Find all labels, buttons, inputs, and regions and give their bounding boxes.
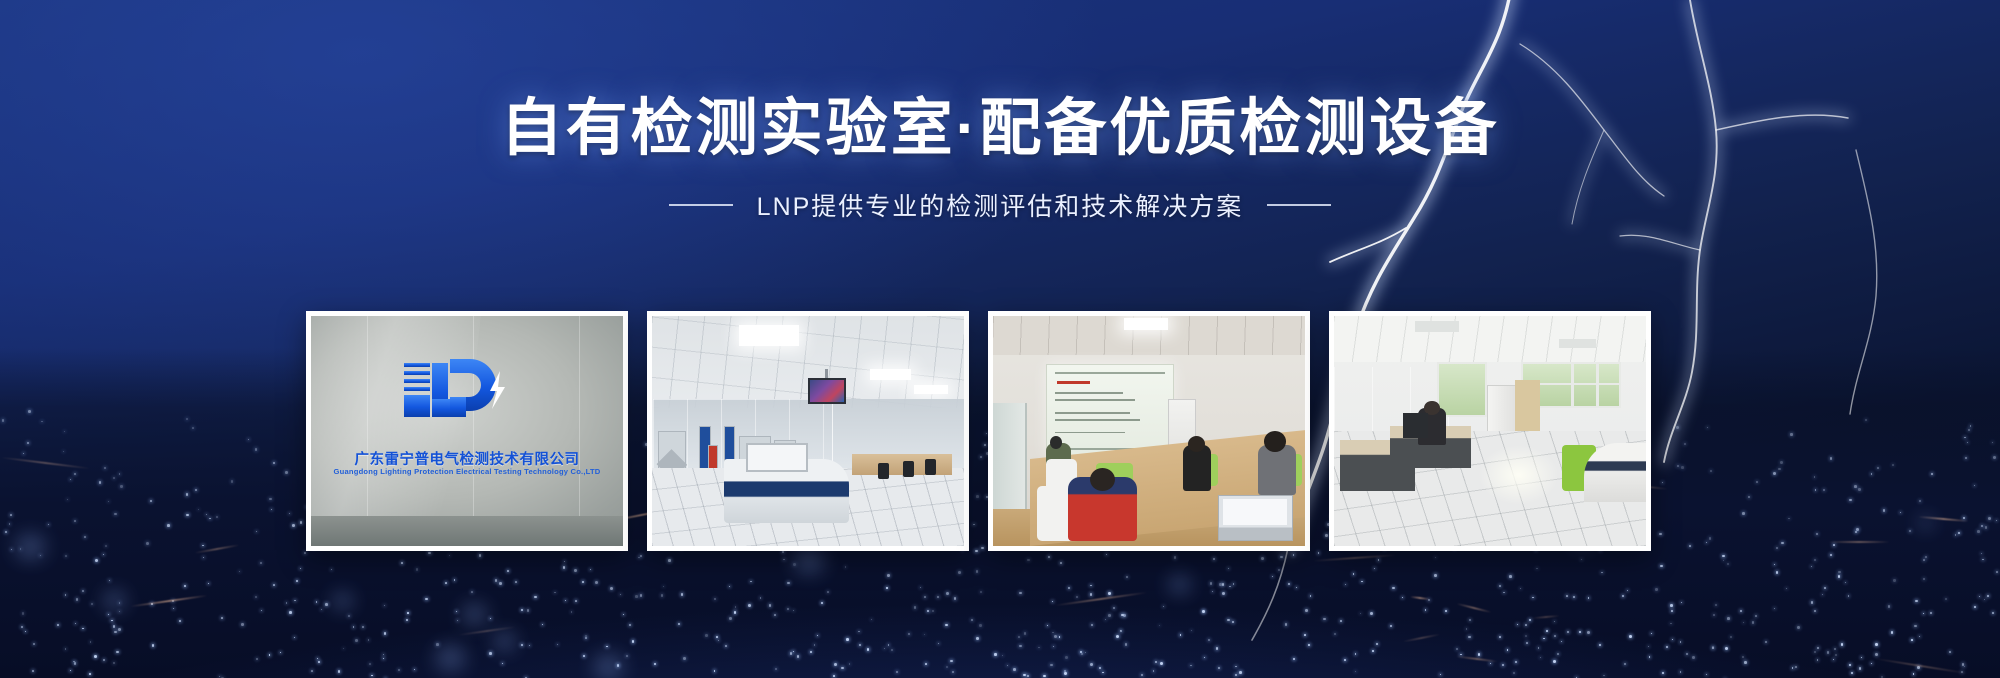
lnp-logo-icon [392,355,542,433]
subtitle-row: LNP提供专业的检测评估和技术解决方案 [0,187,2000,223]
window-left [1437,362,1487,417]
page-subtitle: LNP提供专业的检测评估和技术解决方案 [757,187,1244,223]
laptop [1218,495,1293,541]
dash-right-icon [1267,204,1331,206]
gallery-item-office[interactable] [1329,311,1651,551]
page-title: 自有检测实验室·配备优质检测设备 [0,96,2000,161]
wall-monitor [808,378,846,404]
photo-laboratory [652,316,964,546]
gallery-item-meeting[interactable] [988,311,1310,551]
floor [311,516,623,546]
photo-gallery: 广东雷宁普电气检测技术有限公司 Guangdong Lighting Prote… [306,311,1651,551]
sunlight-patch [1478,445,1559,505]
gallery-item-laboratory[interactable] [647,311,969,551]
attendee-mid [1183,445,1211,491]
photo-office [1334,316,1646,546]
photo-meeting-room [993,316,1305,546]
attendee-right [1258,445,1295,496]
glass-door [993,403,1027,509]
ceiling [1334,316,1646,362]
company-name-en: Guangdong Lighting Protection Electrical… [334,467,601,476]
gallery-item-signage[interactable]: 广东雷宁普电气检测技术有限公司 Guangdong Lighting Prote… [306,311,628,551]
photo-signage: 广东雷宁普电气检测技术有限公司 Guangdong Lighting Prote… [311,316,623,546]
office-desks [852,454,952,475]
headline-block: 自有检测实验室·配备优质检测设备 LNP提供专业的检测评估和技术解决方案 [0,96,2000,223]
hero-banner: 自有检测实验室·配备优质检测设备 LNP提供专业的检测评估和技术解决方案 [0,0,2000,678]
console-monitor [746,443,808,473]
dash-left-icon [669,204,733,206]
